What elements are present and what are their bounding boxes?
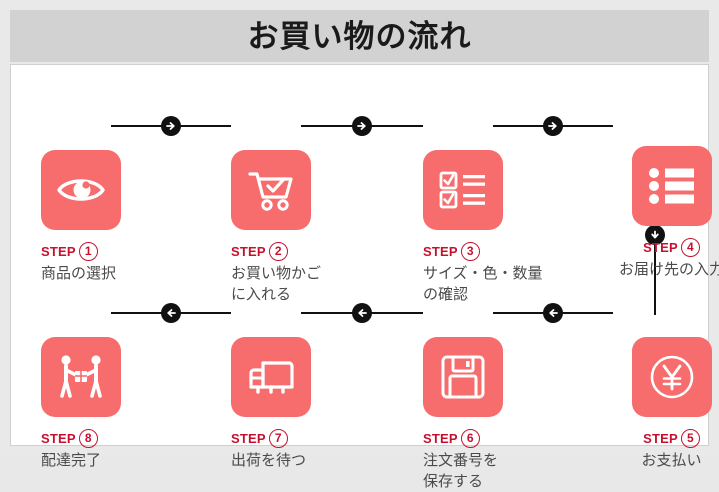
step-5-tile[interactable] [632, 337, 712, 417]
step-6-head: STEP 6 [423, 428, 573, 448]
flow-panel: STEP 1 商品の選択 STEP 2 お [10, 64, 709, 446]
step-item-5[interactable]: STEP 5 お支払い [613, 337, 719, 472]
step-3-tile[interactable] [423, 150, 503, 230]
step-6-word: STEP [423, 431, 458, 446]
step-3-number: 3 [461, 242, 480, 261]
bulleted-list-icon [648, 166, 696, 206]
step-7-head: STEP 7 [231, 428, 381, 448]
step-1-tile[interactable] [41, 150, 121, 230]
step-6-number: 6 [461, 429, 480, 448]
arrow-right-icon-1-2 [161, 116, 181, 136]
package-handoff-icon [55, 354, 107, 400]
step-item-6[interactable]: STEP 6 注文番号を 保存する [423, 337, 573, 492]
step-7-word: STEP [231, 431, 266, 446]
step-2-head: STEP 2 [231, 241, 381, 261]
shopping-cart-icon [246, 167, 296, 213]
arrow-right-icon-3-4 [543, 116, 563, 136]
step-item-4[interactable]: STEP 4 お届け先の入力 [613, 146, 719, 281]
title-banner: お買い物の流れ [10, 10, 709, 62]
step-6-tile[interactable] [423, 337, 503, 417]
step-1-word: STEP [41, 244, 76, 259]
step-2-word: STEP [231, 244, 266, 259]
step-5-number: 5 [681, 429, 700, 448]
yen-coin-icon [647, 352, 697, 402]
step-8-head: STEP 8 [41, 428, 191, 448]
arrow-left-icon-5-6 [543, 303, 563, 323]
step-7-number: 7 [269, 429, 288, 448]
arrow-left-icon-6-7 [352, 303, 372, 323]
step-2-label: お買い物かご に入れる [231, 264, 381, 305]
checklist-icon [438, 170, 488, 210]
step-4-tile[interactable] [632, 146, 712, 226]
step-item-8[interactable]: STEP 8 配達完了 [41, 337, 191, 472]
page-title: お買い物の流れ [248, 21, 472, 52]
step-5-head: STEP 5 [613, 428, 719, 448]
step-4-word: STEP [643, 240, 678, 255]
eye-icon [55, 170, 107, 210]
step-4-head: STEP 4 [613, 237, 719, 257]
step-2-tile[interactable] [231, 150, 311, 230]
floppy-disk-save-icon [440, 354, 486, 400]
step-1-label: 商品の選択 [41, 264, 191, 285]
arrow-left-icon-7-8 [161, 303, 181, 323]
step-item-1[interactable]: STEP 1 商品の選択 [41, 150, 191, 285]
step-6-label: 注文番号を 保存する [423, 451, 573, 492]
delivery-truck-icon [245, 357, 297, 397]
step-1-number: 1 [79, 242, 98, 261]
step-item-2[interactable]: STEP 2 お買い物かご に入れる [231, 150, 381, 305]
step-7-label: 出荷を待つ [231, 451, 381, 472]
step-4-number: 4 [681, 238, 700, 257]
step-5-word: STEP [643, 431, 678, 446]
step-8-tile[interactable] [41, 337, 121, 417]
shopping-flow-page: お買い物の流れ [0, 0, 719, 456]
step-3-label: サイズ・色・数量 の確認 [423, 264, 573, 305]
step-4-label: お届け先の入力 [613, 260, 719, 281]
step-3-head: STEP 3 [423, 241, 573, 261]
step-8-word: STEP [41, 431, 76, 446]
step-7-tile[interactable] [231, 337, 311, 417]
step-item-3[interactable]: STEP 3 サイズ・色・数量 の確認 [423, 150, 573, 305]
step-5-label: お支払い [613, 451, 719, 472]
step-8-number: 8 [79, 429, 98, 448]
step-3-word: STEP [423, 244, 458, 259]
step-item-7[interactable]: STEP 7 出荷を待つ [231, 337, 381, 472]
step-1-head: STEP 1 [41, 241, 191, 261]
step-2-number: 2 [269, 242, 288, 261]
step-8-label: 配達完了 [41, 451, 191, 472]
arrow-right-icon-2-3 [352, 116, 372, 136]
